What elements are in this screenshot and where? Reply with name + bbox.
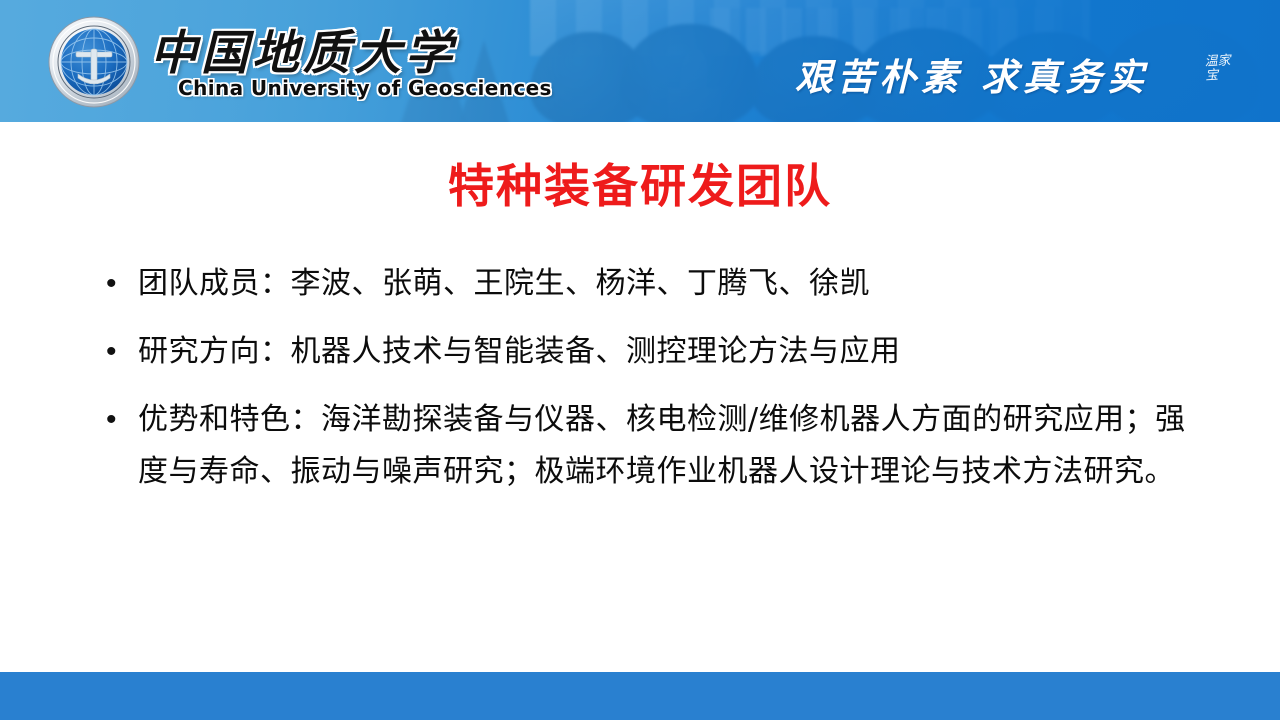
slide-body-content: • 团队成员：李波、张萌、王院生、杨洋、丁腾飞、徐凯 • 研究方向：机器人技术与… bbox=[100, 258, 1210, 514]
university-motto: 艰苦朴素 求真务实 bbox=[795, 47, 1149, 101]
bullet-marker-icon: • bbox=[100, 258, 138, 310]
slide-title: 特种装备研发团队 bbox=[0, 150, 1280, 216]
bullet-item-research-directions: • 研究方向：机器人技术与智能装备、测控理论方法与应用 bbox=[100, 326, 1210, 378]
bullet-text-research-directions: 研究方向：机器人技术与智能装备、测控理论方法与应用 bbox=[138, 326, 1210, 378]
slide-header-banner: 中国地质大学 China University of Geosciences 艰… bbox=[0, 0, 1280, 122]
bullet-text-team-members: 团队成员：李波、张萌、王院生、杨洋、丁腾飞、徐凯 bbox=[138, 258, 1210, 310]
bullet-text-strengths-features: 优势和特色：海洋勘探装备与仪器、核电检测/维修机器人方面的研究应用；强度与寿命、… bbox=[138, 394, 1210, 498]
slide-footer-bar bbox=[0, 672, 1280, 720]
university-name-en: China University of Geosciences bbox=[178, 76, 552, 100]
bullet-item-team-members: • 团队成员：李波、张萌、王院生、杨洋、丁腾飞、徐凯 bbox=[100, 258, 1210, 310]
university-name-cn: 中国地质大学 bbox=[150, 14, 456, 83]
bullet-item-strengths-features: • 优势和特色：海洋勘探装备与仪器、核电检测/维修机器人方面的研究应用；强度与寿… bbox=[100, 394, 1210, 498]
university-emblem-icon bbox=[48, 16, 140, 108]
bullet-marker-icon: • bbox=[100, 394, 138, 446]
bullet-marker-icon: • bbox=[100, 326, 138, 378]
motto-signature: 温家宝 bbox=[1204, 54, 1231, 83]
